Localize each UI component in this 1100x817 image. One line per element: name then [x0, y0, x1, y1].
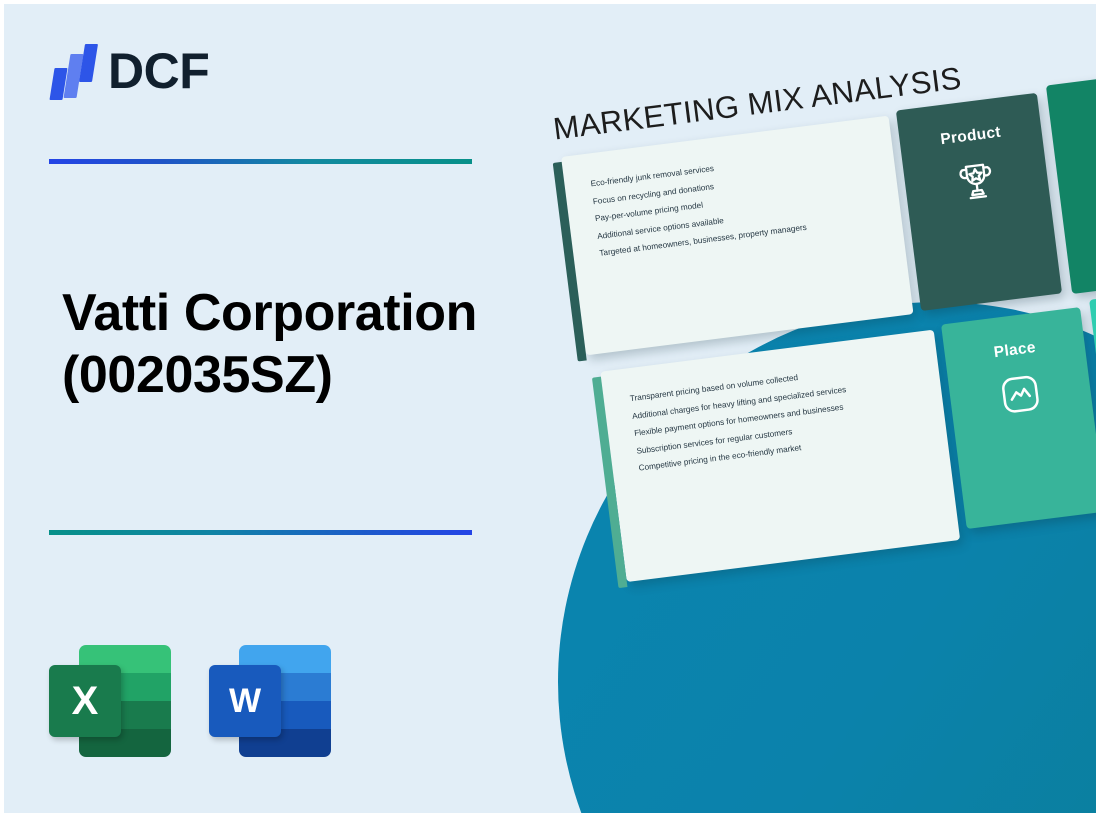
product-label-card[interactable]: Product [896, 93, 1062, 311]
bar-chart-logo-icon [48, 42, 100, 100]
brand-logo-text: DCF [108, 40, 209, 102]
card-edge [553, 162, 587, 362]
marketing-mix-board: MARKETING MIX ANALYSIS Eco-friendly junk… [532, 22, 1096, 618]
activity-wave-icon [995, 369, 1046, 420]
price-bullet-list: Transparent pricing based on volume coll… [629, 353, 932, 477]
product-label: Product [939, 124, 1001, 149]
word-tile-letter: W [209, 665, 281, 737]
brand-logo[interactable]: DCF [48, 42, 308, 104]
company-name: Vatti Corporation [62, 284, 477, 342]
trophy-icon [951, 154, 1002, 205]
place-label-card[interactable]: Place [941, 307, 1096, 529]
company-ticker: (002035SZ) [62, 344, 562, 406]
divider-top [49, 159, 472, 164]
excel-tile-letter: X [49, 665, 121, 737]
page-title: Vatti Corporation (002035SZ) [62, 282, 562, 406]
place-label: Place [993, 339, 1037, 362]
excel-document-icon[interactable]: X [49, 641, 171, 761]
product-details-card: Eco-friendly junk removal services Focus… [561, 116, 913, 356]
divider-bottom [49, 530, 472, 535]
product-bullet-list: Eco-friendly junk removal services Focus… [590, 139, 887, 262]
word-document-icon[interactable]: W [209, 641, 331, 761]
marketing-mix-graphic: MARKETING MIX ANALYSIS Eco-friendly junk… [500, 4, 1096, 813]
card-edge [592, 377, 627, 588]
report-cover-page: DCF Vatti Corporation (002035SZ) X W MAR… [4, 4, 1096, 813]
price-details-card: Transparent pricing based on volume coll… [600, 330, 960, 582]
